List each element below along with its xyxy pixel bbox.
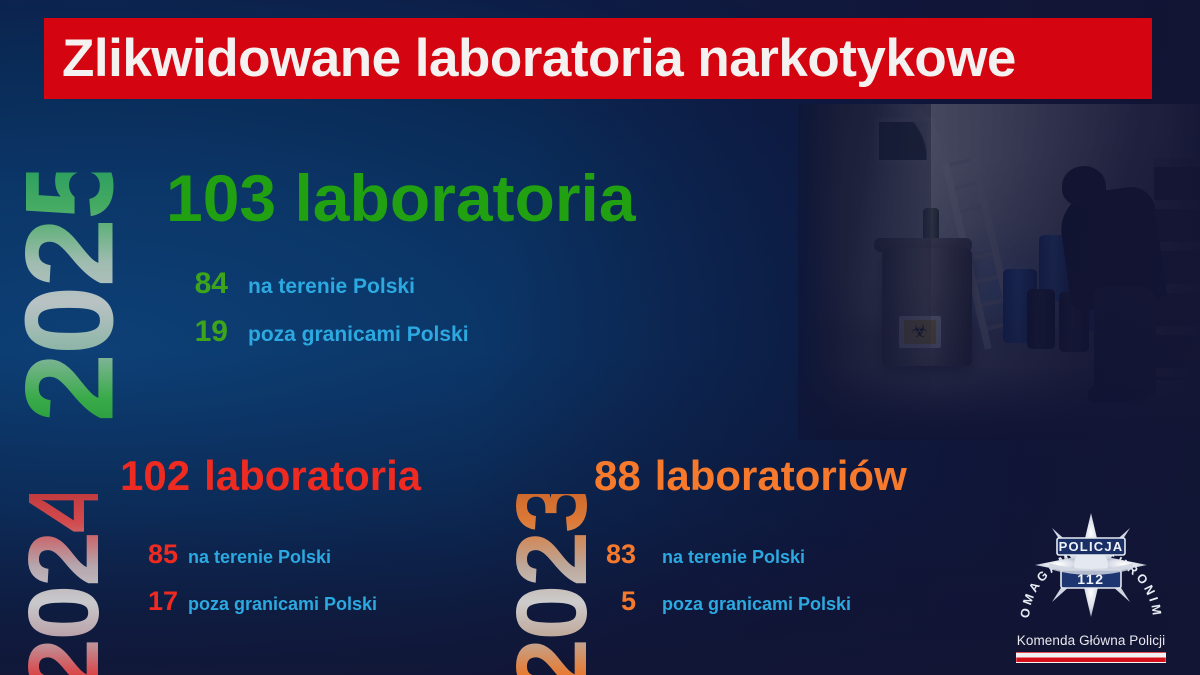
badge-star-icon: POMAGAMY I CHRONIMY — [1009, 503, 1173, 629]
svg-text:POLICJA: POLICJA — [1059, 539, 1124, 554]
headline-word-2023: laboratoriów — [655, 452, 907, 499]
headline-number-2023: 88 — [594, 452, 641, 499]
detail-value: 84 — [166, 267, 228, 301]
page-title: Zlikwidowane laboratoria narkotykowe — [62, 28, 1016, 89]
headline-number-2024: 102 — [120, 452, 190, 499]
year-label-2025: 2025 — [18, 173, 123, 423]
year-label-2023: 2023 — [510, 494, 594, 675]
headline-2023: 88laboratoriów — [594, 455, 907, 497]
stats-block-2024: 102laboratoria 85 na terenie Polski 17 p… — [120, 455, 421, 633]
headline-2024: 102laboratoria — [120, 455, 421, 497]
detail-value: 5 — [594, 586, 636, 617]
headline-word-2025: laboratoria — [294, 161, 635, 235]
detail-row: 83 na terenie Polski — [594, 539, 907, 570]
detail-row: 17 poza granicami Polski — [120, 586, 421, 617]
detail-label: poza granicami Polski — [188, 594, 377, 615]
detail-row: 5 poza granicami Polski — [594, 586, 907, 617]
year-label-2024: 2024 — [22, 494, 106, 675]
stats-block-2025: 103 laboratoria 84 na terenie Polski 19 … — [166, 165, 636, 363]
logo-caption: Komenda Główna Policji — [998, 633, 1184, 648]
detail-value: 83 — [594, 539, 636, 570]
detail-row: 85 na terenie Polski — [120, 539, 421, 570]
detail-value: 19 — [166, 315, 228, 349]
detail-label: poza granicami Polski — [662, 594, 851, 615]
title-banner: Zlikwidowane laboratoria narkotykowe — [44, 18, 1152, 99]
detail-value: 17 — [120, 586, 178, 617]
detail-label: na terenie Polski — [662, 547, 805, 568]
detail-label: na terenie Polski — [188, 547, 331, 568]
police-badge-icon: POMAGAMY I CHRONIMY — [1009, 503, 1173, 629]
detail-value: 85 — [120, 539, 178, 570]
detail-row: 19 poza granicami Polski — [166, 315, 636, 349]
badge-policja-plate: POLICJA — [1057, 538, 1125, 555]
headline-2025: 103 laboratoria — [166, 165, 636, 231]
detail-rows-2024: 85 na terenie Polski 17 poza granicami P… — [120, 539, 421, 617]
detail-label: poza granicami Polski — [248, 323, 469, 347]
detail-rows-2023: 83 na terenie Polski 5 poza granicami Po… — [594, 539, 907, 617]
detail-row: 84 na terenie Polski — [166, 267, 636, 301]
police-logo: POMAGAMY I CHRONIMY — [998, 503, 1184, 663]
detail-label: na terenie Polski — [248, 275, 415, 299]
polish-flag-bar — [1016, 652, 1166, 663]
infographic-poster: Zlikwidowane laboratoria narkotykowe 202… — [0, 0, 1200, 675]
headline-number-2025: 103 — [166, 161, 276, 235]
headline-word-2024: laboratoria — [204, 452, 421, 499]
stats-block-2023: 88laboratoriów 83 na terenie Polski 5 po… — [594, 455, 907, 633]
detail-rows-2025: 84 na terenie Polski 19 poza granicami P… — [166, 267, 636, 349]
